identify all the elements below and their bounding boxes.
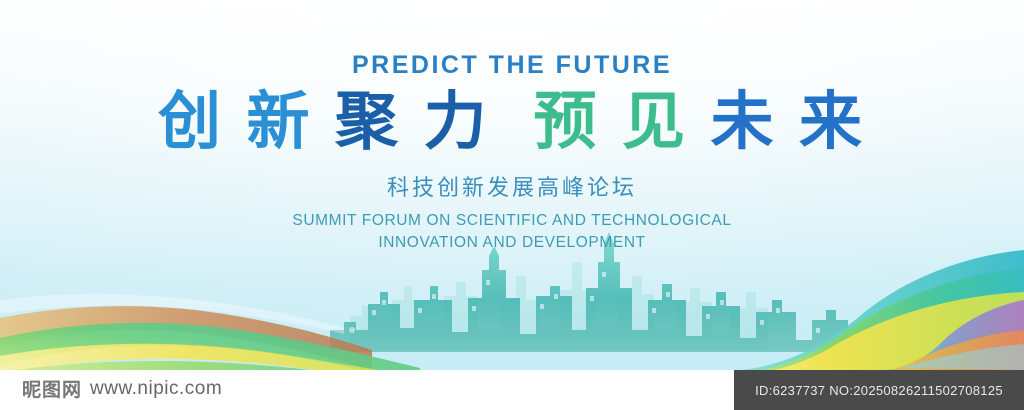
title-part-2: 聚 力 xyxy=(335,87,491,157)
headline-block: PREDICT THE FUTURE 创 新 聚 力 预 见 未 来 科技创新发… xyxy=(0,52,1024,255)
subtitle-chinese: 科技创新发展高峰论坛 xyxy=(0,170,1024,202)
title-part-3: 预 见 xyxy=(534,87,690,157)
poster-canvas: PREDICT THE FUTURE 创 新 聚 力 预 见 未 来 科技创新发… xyxy=(0,0,1024,410)
subtitle-english-line1: SUMMIT FORUM ON SCIENTIFIC AND TECHNOLOG… xyxy=(0,210,1024,232)
subtitle-english: SUMMIT FORUM ON SCIENTIFIC AND TECHNOLOG… xyxy=(0,210,1024,255)
title-part-1: 创 新 xyxy=(158,87,314,157)
watermark-site-name: 昵图网 xyxy=(22,375,82,402)
watermark: 昵图网 www.nipic.com xyxy=(22,375,222,402)
accent-dots xyxy=(349,327,355,333)
main-title: 创 新 聚 力 预 见 未 来 xyxy=(0,86,1024,158)
eyebrow-text: PREDICT THE FUTURE xyxy=(0,52,1024,80)
watermark-url: www.nipic.com xyxy=(90,378,222,400)
subtitle-english-line2: INNOVATION AND DEVELOPMENT xyxy=(0,232,1024,254)
title-part-4: 未 来 xyxy=(711,87,867,157)
image-id-chip: ID:6237737 NO:20250826211502708125 xyxy=(734,370,1024,410)
